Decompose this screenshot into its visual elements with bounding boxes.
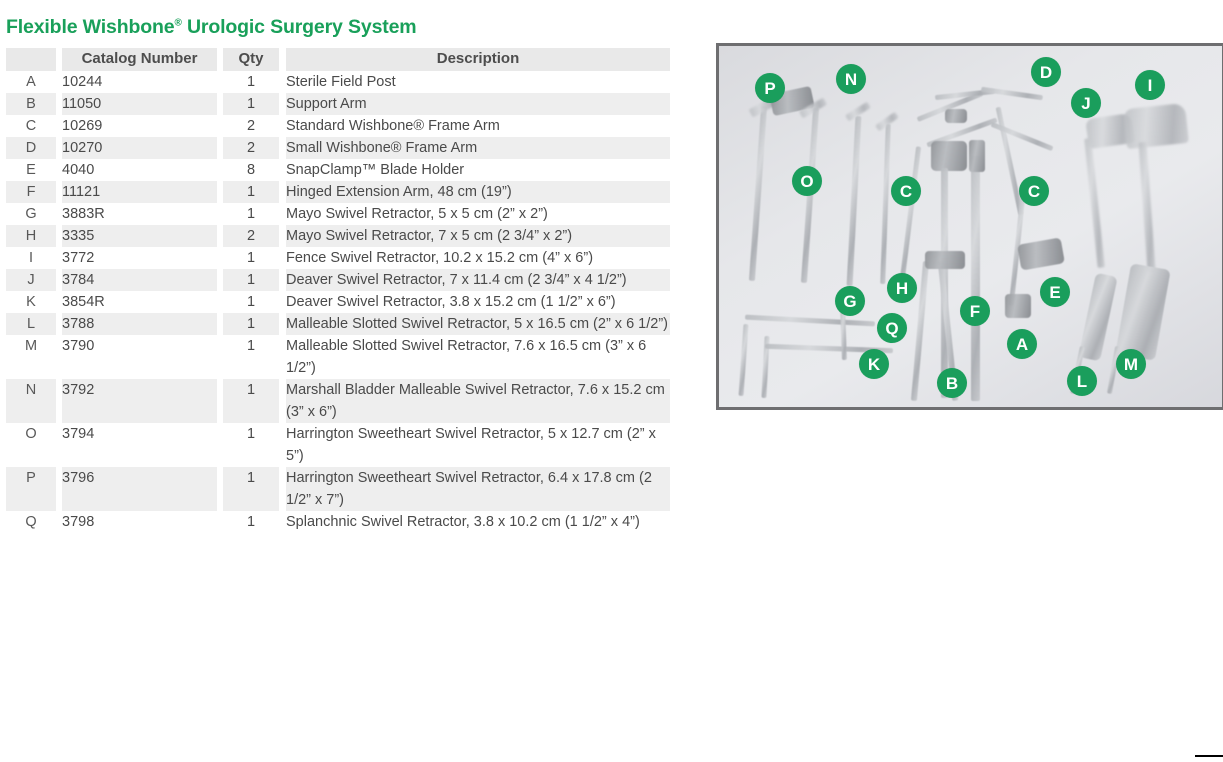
row-letter: K <box>6 291 56 313</box>
photo-marker-l[interactable]: L <box>1067 366 1097 396</box>
photo-marker-p[interactable]: P <box>755 73 785 103</box>
row-description: Malleable Slotted Swivel Retractor, 7.6 … <box>286 335 670 379</box>
row-qty: 2 <box>223 137 279 159</box>
photo-marker-d[interactable]: D <box>1031 57 1061 87</box>
row-description: SnapClamp™ Blade Holder <box>286 159 670 181</box>
photo-marker-h[interactable]: H <box>887 273 917 303</box>
column-header-qty: Qty <box>223 48 279 71</box>
table-row: G3883R1Mayo Swivel Retractor, 5 x 5 cm (… <box>6 203 670 225</box>
row-qty: 1 <box>223 203 279 225</box>
instrument-shape <box>1123 103 1189 149</box>
row-description: Sterile Field Post <box>286 71 670 93</box>
row-letter: L <box>6 313 56 335</box>
column-gap <box>279 71 286 93</box>
row-letter: A <box>6 71 56 93</box>
photo-marker-g[interactable]: G <box>835 286 865 316</box>
table-header-row: Catalog Number Qty Description <box>6 48 670 71</box>
row-catalog-number: 3883R <box>62 203 217 225</box>
instrument-shape <box>738 324 748 396</box>
table-row: D102702Small Wishbone® Frame Arm <box>6 137 670 159</box>
row-letter: H <box>6 225 56 247</box>
row-description: Harrington Sweetheart Swivel Retractor, … <box>286 467 670 511</box>
row-catalog-number: 3784 <box>62 269 217 291</box>
row-qty: 1 <box>223 379 279 423</box>
photo-marker-i[interactable]: I <box>1135 70 1165 100</box>
photo-marker-f[interactable]: F <box>960 296 990 326</box>
column-gap <box>279 313 286 335</box>
row-qty: 1 <box>223 247 279 269</box>
row-letter: B <box>6 93 56 115</box>
row-description: Mayo Swivel Retractor, 5 x 5 cm (2” x 2”… <box>286 203 670 225</box>
bottom-rule <box>1195 755 1223 757</box>
row-letter: G <box>6 203 56 225</box>
row-catalog-number: 3790 <box>62 335 217 379</box>
row-letter: C <box>6 115 56 137</box>
instrument-shape <box>990 122 1053 151</box>
row-letter: D <box>6 137 56 159</box>
photo-marker-n[interactable]: N <box>836 64 866 94</box>
row-letter: Q <box>6 511 56 533</box>
photo-marker-c[interactable]: C <box>891 176 921 206</box>
table-row: Q37981Splanchnic Swivel Retractor, 3.8 x… <box>6 511 670 533</box>
column-gap <box>279 137 286 159</box>
row-description: Malleable Slotted Swivel Retractor, 5 x … <box>286 313 670 335</box>
table-row: O37941Harrington Sweetheart Swivel Retra… <box>6 423 670 467</box>
instrument-shape <box>1115 263 1170 361</box>
page-title-main: Flexible Wishbone <box>6 16 174 38</box>
column-gap <box>279 93 286 115</box>
instrument-shape <box>749 106 767 281</box>
instrument-shape <box>925 251 965 269</box>
column-gap <box>279 269 286 291</box>
row-letter: O <box>6 423 56 467</box>
instrument-shape <box>969 140 985 172</box>
row-catalog-number: 3798 <box>62 511 217 533</box>
row-catalog-number: 3335 <box>62 225 217 247</box>
row-letter: J <box>6 269 56 291</box>
row-description: Marshall Bladder Malleable Swivel Retrac… <box>286 379 670 423</box>
photo-marker-c[interactable]: C <box>1019 176 1049 206</box>
row-description: Splanchnic Swivel Retractor, 3.8 x 10.2 … <box>286 511 670 533</box>
column-gap <box>279 379 286 423</box>
column-gap <box>279 467 286 511</box>
row-catalog-number: 3792 <box>62 379 217 423</box>
table-row: E40408SnapClamp™ Blade Holder <box>6 159 670 181</box>
row-description: Small Wishbone® Frame Arm <box>286 137 670 159</box>
table-row: P37961Harrington Sweetheart Swivel Retra… <box>6 467 670 511</box>
row-letter: F <box>6 181 56 203</box>
parts-table: Catalog Number Qty Description A102441St… <box>6 48 670 533</box>
page-title: Flexible Wishbone® Urologic Surgery Syst… <box>6 16 417 39</box>
row-qty: 2 <box>223 115 279 137</box>
row-letter: M <box>6 335 56 379</box>
row-catalog-number: 10244 <box>62 71 217 93</box>
instrument-shape <box>1017 237 1065 270</box>
column-gap <box>279 203 286 225</box>
row-catalog-number: 11050 <box>62 93 217 115</box>
column-header-description: Description <box>286 48 670 71</box>
table-row: H33352Mayo Swivel Retractor, 7 x 5 cm (2… <box>6 225 670 247</box>
row-catalog-number: 4040 <box>62 159 217 181</box>
row-qty: 1 <box>223 467 279 511</box>
instrument-shape <box>847 116 862 286</box>
row-description: Deaver Swivel Retractor, 3.8 x 15.2 cm (… <box>286 291 670 313</box>
table-row: I37721Fence Swivel Retractor, 10.2 x 15.… <box>6 247 670 269</box>
table-row: M37901Malleable Slotted Swivel Retractor… <box>6 335 670 379</box>
instrument-shape <box>945 109 967 123</box>
column-gap <box>279 115 286 137</box>
row-catalog-number: 3772 <box>62 247 217 269</box>
row-description: Deaver Swivel Retractor, 7 x 11.4 cm (2 … <box>286 269 670 291</box>
column-header-catalog-number: Catalog Number <box>62 48 217 71</box>
row-qty: 1 <box>223 291 279 313</box>
table-row: J37841Deaver Swivel Retractor, 7 x 11.4 … <box>6 269 670 291</box>
row-qty: 1 <box>223 313 279 335</box>
row-letter: P <box>6 467 56 511</box>
row-catalog-number: 11121 <box>62 181 217 203</box>
column-gap <box>279 225 286 247</box>
instrument-shape <box>1005 294 1031 318</box>
column-header-letter <box>6 48 56 71</box>
registered-mark-icon: ® <box>174 18 181 29</box>
row-qty: 1 <box>223 71 279 93</box>
instrument-photo: PNDIJOCCHEGFQAKLMB <box>719 46 1222 407</box>
photo-marker-j[interactable]: J <box>1071 88 1101 118</box>
row-qty: 1 <box>223 93 279 115</box>
row-catalog-number: 10270 <box>62 137 217 159</box>
row-catalog-number: 3854R <box>62 291 217 313</box>
table-row: C102692Standard Wishbone® Frame Arm <box>6 115 670 137</box>
photo-marker-m[interactable]: M <box>1116 349 1146 379</box>
instrument-shape <box>1084 138 1105 268</box>
column-gap <box>279 48 286 71</box>
photo-marker-e[interactable]: E <box>1040 277 1070 307</box>
column-gap <box>279 423 286 467</box>
row-catalog-number: 10269 <box>62 115 217 137</box>
row-description: Support Arm <box>286 93 670 115</box>
photo-marker-b[interactable]: B <box>937 368 967 398</box>
column-gap <box>279 181 286 203</box>
column-gap <box>279 291 286 313</box>
table-row: B110501Support Arm <box>6 93 670 115</box>
column-gap <box>279 511 286 533</box>
row-qty: 8 <box>223 159 279 181</box>
row-qty: 1 <box>223 181 279 203</box>
instrument-shape <box>745 315 875 327</box>
photo-marker-q[interactable]: Q <box>877 313 907 343</box>
row-letter: N <box>6 379 56 423</box>
instrument-shape <box>840 308 847 360</box>
photo-marker-k[interactable]: K <box>859 349 889 379</box>
row-letter: E <box>6 159 56 181</box>
row-catalog-number: 3794 <box>62 423 217 467</box>
row-description: Harrington Sweetheart Swivel Retractor, … <box>286 423 670 467</box>
instrument-photo-panel: PNDIJOCCHEGFQAKLMB <box>716 43 1223 410</box>
column-gap <box>279 335 286 379</box>
table-row: K3854R1Deaver Swivel Retractor, 3.8 x 15… <box>6 291 670 313</box>
row-qty: 1 <box>223 423 279 467</box>
row-catalog-number: 3796 <box>62 467 217 511</box>
photo-marker-o[interactable]: O <box>792 166 822 196</box>
table-row: A102441Sterile Field Post <box>6 71 670 93</box>
table-row: L37881Malleable Slotted Swivel Retractor… <box>6 313 670 335</box>
row-qty: 1 <box>223 335 279 379</box>
row-description: Standard Wishbone® Frame Arm <box>286 115 670 137</box>
row-description: Fence Swivel Retractor, 10.2 x 15.2 cm (… <box>286 247 670 269</box>
instrument-shape <box>1138 142 1155 272</box>
table-row: F111211Hinged Extension Arm, 48 cm (19”) <box>6 181 670 203</box>
row-qty: 1 <box>223 511 279 533</box>
instrument-shape <box>931 141 967 171</box>
page-title-suffix: Urologic Surgery System <box>182 16 417 38</box>
photo-marker-a[interactable]: A <box>1007 329 1037 359</box>
column-gap <box>279 247 286 269</box>
column-gap <box>279 159 286 181</box>
row-description: Hinged Extension Arm, 48 cm (19”) <box>286 181 670 203</box>
row-letter: I <box>6 247 56 269</box>
row-description: Mayo Swivel Retractor, 7 x 5 cm (2 3/4” … <box>286 225 670 247</box>
row-catalog-number: 3788 <box>62 313 217 335</box>
instrument-shape <box>971 156 980 401</box>
instrument-shape <box>880 124 891 284</box>
row-qty: 1 <box>223 269 279 291</box>
table-row: N37921Marshall Bladder Malleable Swivel … <box>6 379 670 423</box>
row-qty: 2 <box>223 225 279 247</box>
